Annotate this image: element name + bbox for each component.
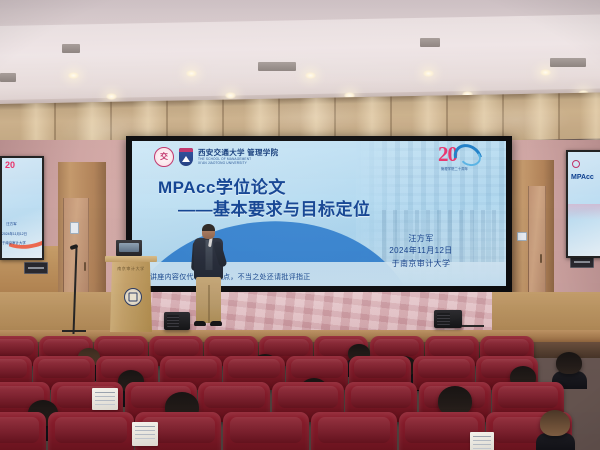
podium-surface [105,256,157,262]
audience-handout [132,422,158,446]
audience-seat [311,412,397,450]
left-display-arc [0,165,44,260]
right-display-band [568,204,600,220]
school-name-en-2: XI'AN JIAOTONG UNIVERSITY [198,162,278,165]
audience-handout [470,432,494,450]
downlight-2 [305,72,316,79]
podium-crest-icon [124,288,142,306]
slide-title-line-2: ——基本要求与目标定位 [178,201,371,218]
school-shield-icon [179,148,193,166]
slide-presenter-name: 汪方军 [366,233,476,245]
audience-member-head [556,352,582,374]
ceiling-vent-0 [62,44,80,53]
audience-member-head [540,410,570,436]
slide-byline: 汪方军 2024年11月12日 于南京审计大学 [366,233,476,270]
ceiling-vent-3 [550,58,586,67]
right-display-seal-icon [572,160,580,168]
stage-cable [462,325,484,327]
left-display-date: 2024年11月12日 [2,231,27,236]
downlight-0 [68,72,79,79]
left-display-screen: 20 汪方军 2024年11月12日 于南京审计大学 [0,156,44,260]
ceiling-vent-1 [258,62,296,71]
presentation-slide: 交 西安交通大学 管理学院 THE SCHOOL OF MANAGEMENT X… [132,141,506,286]
right-door-handle[interactable] [540,254,542,263]
downlight-5 [106,93,117,100]
anniversary-logo: 20 管理学院二十周年 [438,143,484,171]
audience-seating [0,336,600,450]
slide-logo-text: 西安交通大学 管理学院 THE SCHOOL OF MANAGEMENT XI'… [198,149,278,165]
left-display-content: 20 汪方军 2024年11月12日 于南京审计大学 [2,158,42,258]
downlight-6 [225,92,236,99]
audience-seat [48,412,134,450]
slide-disclaimer: 讲座内容仅代表个人观点，不当之处还请批评指正 [150,272,311,282]
audience-seat [0,412,46,450]
right-display-screen: MPAcc [566,150,600,258]
speaker-shoe-left [194,321,206,326]
ceiling-vent-4 [0,73,16,82]
left-display-anniv-number: 20 [5,161,15,170]
downlight-3 [423,70,434,77]
slide-location: 于南京审计大学 [366,258,476,270]
left-display-presenter: 汪方军 [6,222,17,227]
left-display-location: 于南京审计大学 [2,240,26,245]
stage-monitor-right [434,310,462,328]
slide-logo-group: 交 西安交通大学 管理学院 THE SCHOOL OF MANAGEMENT X… [154,147,278,167]
left-door-sign [70,222,79,234]
right-display-content: MPAcc [568,152,600,256]
university-seal-icon: 交 [154,147,174,167]
speaker-legs [196,277,221,323]
right-display-title: MPAcc [571,174,594,181]
podium-laptop [116,240,142,256]
left-wall-sign [24,262,48,274]
slide-date: 2024年11月12日 [366,245,476,257]
left-door-handle[interactable] [84,262,86,271]
school-name-cn: 西安交通大学 管理学院 [198,149,278,157]
slide-title-line-1: MPAcc学位论文 [158,179,286,196]
ceiling-vent-2 [420,38,440,47]
right-door-sign [517,232,527,241]
podium-nameplate: 南京审计大学 [111,266,151,272]
speaker-head [202,224,215,239]
downlight-4 [540,69,551,76]
audience-seat [223,412,309,450]
anniversary-caption: 管理学院二十周年 [441,166,468,171]
speaker-shoe-right [210,321,222,326]
stage-monitor-left [164,312,190,330]
auditorium-photo: 20 汪方军 2024年11月12日 于南京审计大学 MPAcc 交 西安交通大… [0,0,600,450]
audience-handout [92,388,118,410]
tripod-base [62,330,86,332]
downlight-1 [186,70,197,77]
